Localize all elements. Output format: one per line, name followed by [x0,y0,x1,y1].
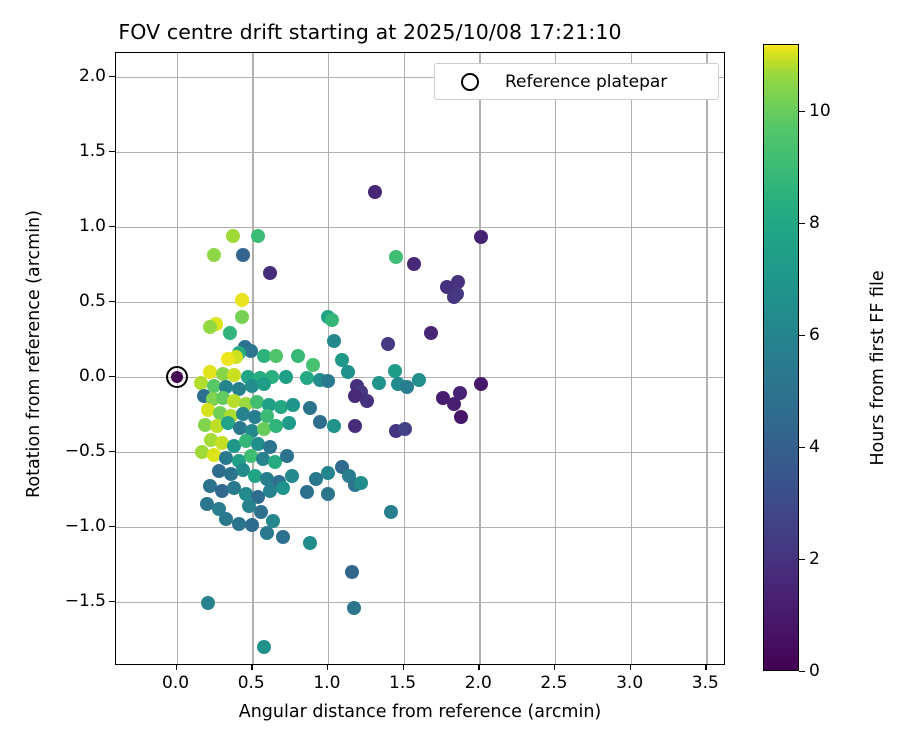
scatter-point [286,398,300,412]
colorbar-tick-label: 6 [809,325,859,345]
x-tick-label: 3.0 [600,673,660,693]
scatter-point [303,536,317,550]
scatter-point [266,514,280,528]
y-tick-label: 2.0 [46,66,106,86]
reference-point-fill [171,371,183,383]
scatter-point [381,337,395,351]
scatter-point [263,266,277,280]
y-tick-mark [109,226,115,227]
scatter-point [398,422,412,436]
scatter-point [424,326,438,340]
y-tick-mark [109,601,115,602]
scatter-point [474,230,488,244]
scatter-point [276,481,290,495]
plot-area [115,52,725,665]
scatter-point [235,293,249,307]
y-tick-mark [109,151,115,152]
scatter-point [257,640,271,654]
colorbar [763,44,799,671]
colorbar-tick-label: 2 [809,549,859,569]
scatter-point [388,364,402,378]
colorbar-tick-mark [799,111,805,112]
x-tick-mark [554,665,555,670]
scatter-point [300,371,314,385]
scatter-point [407,257,421,271]
scatter-point [313,415,327,429]
x-tick-label: 0.0 [146,673,206,693]
x-tick-mark [403,665,404,670]
y-tick-mark [109,376,115,377]
colorbar-tick-mark [799,223,805,224]
scatter-point [260,526,274,540]
colorbar-tick-label: 4 [809,437,859,457]
scatter-point [276,530,290,544]
legend-label: Reference platepar [505,72,667,92]
x-tick-label: 2.5 [524,673,584,693]
x-tick-mark [705,665,706,670]
legend[interactable]: Reference platepar [434,63,719,100]
x-tick-label: 1.5 [373,673,433,693]
y-tick-mark [109,451,115,452]
colorbar-tick-mark [799,559,805,560]
scatter-point [360,394,374,408]
colorbar-tick-label: 0 [809,661,859,681]
scatter-point [348,419,362,433]
reference-platepar-point[interactable] [166,366,188,388]
scatter-point [325,313,339,327]
scatter-point [244,344,258,358]
colorbar-tick-mark [799,447,805,448]
scatter-point [327,419,341,433]
scatter-point [291,349,305,363]
scatter-point [251,229,265,243]
scatter-point [300,485,314,499]
colorbar-tick-label: 8 [809,213,859,233]
y-tick-mark [109,301,115,302]
x-tick-label: 2.0 [448,673,508,693]
scatter-point [321,487,335,501]
scatter-point [245,518,259,532]
scatter-point [321,466,335,480]
scatter-point [321,374,335,388]
scatter-point [341,365,355,379]
colorbar-label: Hours from first FF file [868,68,888,668]
figure-canvas: FOV centre drift starting at 2025/10/08 … [0,0,900,750]
x-tick-label: 3.5 [675,673,735,693]
scatter-point [454,410,468,424]
y-tick-label: 1.5 [46,141,106,161]
scatter-point [450,287,464,301]
x-tick-mark [327,665,328,670]
x-tick-label: 0.5 [221,673,281,693]
scatter-point [203,320,217,334]
scatter-point [232,517,246,531]
scatter-point [280,449,294,463]
colorbar-tick-label: 10 [809,101,859,121]
scatter-point [368,185,382,199]
y-tick-mark [109,76,115,77]
reference-platepar-marker-icon [461,73,479,91]
colorbar-tick-mark [799,671,805,672]
x-tick-mark [251,665,252,670]
x-tick-label: 1.0 [297,673,357,693]
x-tick-mark [630,665,631,670]
scatter-point [235,310,249,324]
x-tick-mark [478,665,479,670]
scatter-point [236,248,250,262]
colorbar-tick-mark [799,335,805,336]
scatter-point [412,373,426,387]
scatter-point [269,349,283,363]
y-tick-label: −0.5 [46,441,106,461]
scatter-point [279,370,293,384]
scatter-point [282,416,296,430]
x-tick-mark [176,665,177,670]
x-axis-label: Angular distance from reference (arcmin) [115,702,725,722]
scatter-point [223,326,237,340]
scatter-point [347,601,361,615]
scatter-point [306,358,320,372]
scatter-point [345,565,359,579]
scatter-point [257,377,271,391]
scatter-point [226,229,240,243]
y-tick-label: 0.0 [46,366,106,386]
scatter-point [389,250,403,264]
chart-title: FOV centre drift starting at 2025/10/08 … [0,20,740,44]
scatter-point [384,505,398,519]
scatter-point [201,596,215,610]
scatter-point [453,386,467,400]
scatter-point [327,334,341,348]
scatter-point [354,476,368,490]
scatter-point [207,248,221,262]
scatter-points [116,53,724,664]
y-tick-mark [109,526,115,527]
scatter-point [372,376,386,390]
scatter-point [303,401,317,415]
scatter-point [474,377,488,391]
y-tick-label: −1.0 [46,516,106,536]
scatter-point [221,352,235,366]
y-tick-label: 1.0 [46,216,106,236]
y-axis-label: Rotation from reference (arcmin) [24,54,44,654]
scatter-point [285,469,299,483]
scatter-point [194,376,208,390]
y-tick-label: −1.5 [46,591,106,611]
y-tick-label: 0.5 [46,291,106,311]
